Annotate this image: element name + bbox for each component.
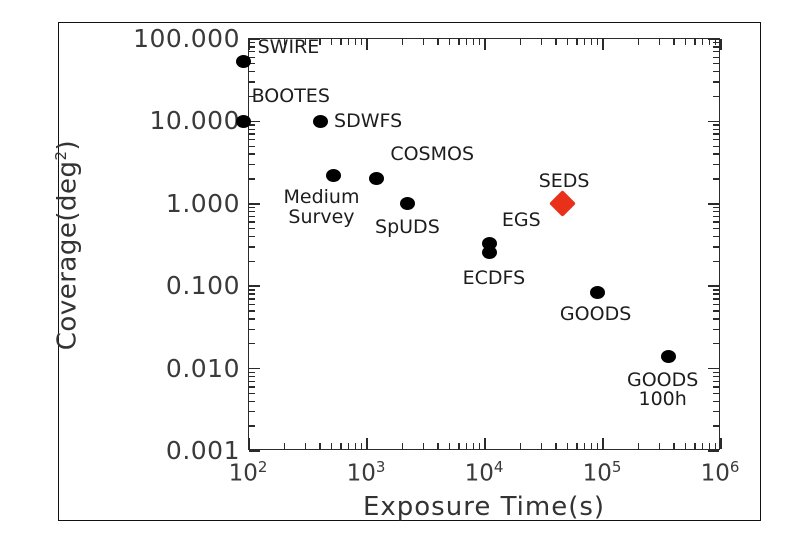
- x-minor-tick-top: [638, 39, 639, 45]
- y-minor-tick-right: [713, 304, 719, 305]
- x-minor-tick-top: [479, 39, 480, 45]
- y-minor-tick-right: [713, 124, 719, 125]
- y-minor-tick: [249, 153, 255, 154]
- y-minor-tick: [249, 261, 255, 262]
- y-minor-tick-right: [713, 146, 719, 147]
- y-minor-tick-right: [713, 51, 719, 52]
- x-major-tick-top: [366, 39, 368, 50]
- y-minor-tick-right: [713, 261, 719, 262]
- x-minor-tick-top: [694, 39, 695, 45]
- y-minor-tick-right: [713, 207, 719, 208]
- x-minor-tick: [673, 443, 674, 449]
- y-minor-tick-right: [713, 46, 719, 47]
- xtick-label-1e6: 106: [701, 458, 740, 487]
- data-point-goods-100h[interactable]: [661, 350, 676, 363]
- x-minor-tick: [340, 443, 341, 449]
- y-minor-tick-right: [713, 381, 719, 382]
- y-minor-tick-right: [713, 298, 719, 299]
- data-label-medium-survey: Medium Survey: [283, 188, 359, 228]
- xtick-base: 10: [583, 461, 612, 487]
- y-minor-tick: [249, 46, 255, 47]
- y-minor-tick-right: [713, 133, 719, 134]
- y-minor-tick: [249, 42, 255, 43]
- data-point-seds[interactable]: [549, 190, 576, 217]
- x-minor-tick: [423, 443, 424, 449]
- y-minor-tick: [249, 81, 255, 82]
- x-minor-tick-top: [466, 39, 467, 45]
- y-minor-tick: [249, 221, 255, 222]
- x-minor-tick-top: [659, 39, 660, 45]
- y-minor-tick: [249, 228, 255, 229]
- x-minor-tick: [319, 443, 320, 449]
- data-label-goods-100h: GOODS 100h: [627, 371, 698, 411]
- y-minor-tick-right: [713, 228, 719, 229]
- x-minor-tick: [694, 443, 695, 449]
- x-minor-tick-top: [715, 39, 716, 45]
- xtick-exponent: 3: [376, 458, 386, 476]
- x-minor-tick: [520, 443, 521, 449]
- y-minor-tick: [249, 376, 255, 377]
- x-minor-tick-top: [340, 39, 341, 45]
- y-minor-tick: [249, 386, 255, 387]
- y-minor-tick: [249, 71, 255, 72]
- y-minor-tick: [249, 178, 255, 179]
- y-axis-title-text: Coverage(deg: [53, 161, 83, 351]
- xtick-exponent: 2: [258, 458, 268, 476]
- data-label-seds: SEDS: [539, 172, 590, 192]
- y-major-tick: [249, 285, 260, 287]
- data-label-egs: EGS: [502, 211, 541, 231]
- x-minor-tick: [437, 443, 438, 449]
- y-minor-tick: [249, 146, 255, 147]
- y-minor-tick-right: [713, 393, 719, 394]
- x-minor-tick: [355, 443, 356, 449]
- x-minor-tick: [402, 443, 403, 449]
- x-minor-tick-top: [437, 39, 438, 45]
- xtick-exponent: 5: [612, 458, 622, 476]
- data-point-spuds[interactable]: [400, 197, 415, 210]
- x-minor-tick-top: [685, 39, 686, 45]
- y-minor-tick-right: [713, 139, 719, 140]
- y-minor-tick: [249, 293, 255, 294]
- data-point-bootes[interactable]: [236, 115, 251, 128]
- y-major-tick: [249, 368, 260, 370]
- y-minor-tick: [249, 329, 255, 330]
- x-minor-tick: [361, 443, 362, 449]
- y-major-tick-right: [708, 368, 719, 370]
- x-major-tick-top: [248, 39, 250, 50]
- x-major-tick-top: [720, 39, 722, 50]
- x-minor-tick-top: [520, 39, 521, 45]
- y-minor-tick-right: [713, 63, 719, 64]
- y-minor-tick-right: [713, 343, 719, 344]
- x-major-tick-top: [602, 39, 604, 50]
- y-minor-tick: [249, 318, 255, 319]
- ytick-label-1: 1.000: [166, 189, 240, 218]
- x-minor-tick: [473, 443, 474, 449]
- y-minor-tick-right: [713, 71, 719, 72]
- x-minor-tick: [331, 443, 332, 449]
- ytick-label-100: 100.000: [133, 24, 240, 53]
- data-label-bootes: BOOTES: [252, 87, 330, 107]
- xtick-label-1e2: 102: [229, 458, 268, 487]
- y-minor-tick: [249, 129, 255, 130]
- x-major-tick: [720, 438, 722, 449]
- data-point-ecdfs[interactable]: [482, 246, 497, 259]
- x-minor-tick: [638, 443, 639, 449]
- xtick-exponent: 6: [730, 458, 740, 476]
- x-minor-tick-top: [473, 39, 474, 45]
- y-minor-tick: [249, 164, 255, 165]
- y-minor-tick-right: [713, 289, 719, 290]
- x-minor-tick: [541, 443, 542, 449]
- y-minor-tick-right: [713, 293, 719, 294]
- y-axis-title-close: ): [53, 140, 83, 151]
- xtick-base: 10: [347, 461, 376, 487]
- y-minor-tick-right: [713, 178, 719, 179]
- xtick-base: 10: [701, 461, 730, 487]
- x-minor-tick: [715, 443, 716, 449]
- x-minor-tick-top: [348, 39, 349, 45]
- y-minor-tick: [249, 298, 255, 299]
- plot-area: SWIREBOOTESSDWFSMedium SurveyCOSMOSSpUDS…: [248, 38, 720, 450]
- x-minor-tick-top: [584, 39, 585, 45]
- x-minor-tick: [305, 443, 306, 449]
- data-point-goods[interactable]: [590, 286, 605, 299]
- x-minor-tick: [576, 443, 577, 449]
- y-minor-tick-right: [713, 386, 719, 387]
- xtick-exponent: 4: [494, 458, 504, 476]
- x-minor-tick: [466, 443, 467, 449]
- x-minor-tick: [458, 443, 459, 449]
- x-minor-tick: [597, 443, 598, 449]
- x-major-tick-top: [484, 39, 486, 50]
- y-minor-tick-right: [713, 129, 719, 130]
- y-minor-tick-right: [713, 329, 719, 330]
- x-minor-tick-top: [567, 39, 568, 45]
- x-minor-tick-top: [597, 39, 598, 45]
- data-point-cosmos[interactable]: [369, 172, 384, 185]
- y-major-tick-right: [708, 121, 719, 123]
- y-minor-tick-right: [713, 376, 719, 377]
- figure-canvas: 100.000 10.000 1.000 0.100 0.010 0.001 C…: [0, 0, 800, 539]
- y-minor-tick: [249, 133, 255, 134]
- y-minor-tick: [249, 411, 255, 412]
- x-minor-tick: [567, 443, 568, 449]
- x-minor-tick-top: [591, 39, 592, 45]
- y-minor-tick: [249, 393, 255, 394]
- data-label-cosmos: COSMOS: [390, 145, 474, 165]
- y-minor-tick: [249, 381, 255, 382]
- x-minor-tick-top: [541, 39, 542, 45]
- y-minor-tick: [249, 310, 255, 311]
- y-major-tick: [249, 203, 260, 205]
- data-point-swire[interactable]: [236, 55, 251, 68]
- x-minor-tick: [591, 443, 592, 449]
- y-minor-tick: [249, 236, 255, 237]
- x-minor-tick: [702, 443, 703, 449]
- x-minor-tick: [479, 443, 480, 449]
- x-major-tick: [602, 438, 604, 449]
- data-label-spuds: SpUDS: [375, 218, 440, 238]
- data-point-sdwfs[interactable]: [313, 115, 328, 128]
- ytick-label-10: 10.000: [150, 106, 240, 135]
- y-major-tick-right: [708, 450, 719, 452]
- x-minor-tick-top: [355, 39, 356, 45]
- x-minor-tick: [685, 443, 686, 449]
- data-label-ecdfs: ECDFS: [463, 269, 526, 289]
- x-minor-tick: [709, 443, 710, 449]
- x-minor-tick-top: [555, 39, 556, 45]
- y-major-tick-right: [708, 285, 719, 287]
- y-minor-tick: [249, 343, 255, 344]
- x-minor-tick: [584, 443, 585, 449]
- y-minor-tick: [249, 207, 255, 208]
- xtick-base: 10: [465, 461, 494, 487]
- y-minor-tick: [249, 246, 255, 247]
- x-minor-tick: [449, 443, 450, 449]
- y-minor-tick: [249, 216, 255, 217]
- y-axis-title-exponent: 2: [52, 150, 70, 160]
- y-major-tick-right: [708, 203, 719, 205]
- x-minor-tick-top: [331, 39, 332, 45]
- y-minor-tick-right: [713, 221, 719, 222]
- x-minor-tick: [284, 443, 285, 449]
- x-minor-tick-top: [673, 39, 674, 45]
- x-minor-tick-top: [319, 39, 320, 45]
- y-minor-tick: [249, 139, 255, 140]
- y-minor-tick: [249, 304, 255, 305]
- x-minor-tick-top: [402, 39, 403, 45]
- x-major-tick: [484, 438, 486, 449]
- y-minor-tick-right: [713, 236, 719, 237]
- y-minor-tick: [249, 425, 255, 426]
- x-minor-tick-top: [423, 39, 424, 45]
- y-minor-tick-right: [713, 211, 719, 212]
- y-minor-tick-right: [713, 246, 719, 247]
- y-minor-tick: [249, 289, 255, 290]
- y-minor-tick-right: [713, 81, 719, 82]
- y-minor-tick: [249, 372, 255, 373]
- y-major-tick: [249, 450, 260, 452]
- y-minor-tick: [249, 51, 255, 52]
- x-minor-tick: [555, 443, 556, 449]
- y-minor-tick-right: [713, 411, 719, 412]
- x-minor-tick-top: [458, 39, 459, 45]
- y-minor-tick-right: [713, 57, 719, 58]
- x-minor-tick: [659, 443, 660, 449]
- xtick-label-1e4: 104: [465, 458, 504, 487]
- data-label-sdwfs: SDWFS: [334, 112, 402, 132]
- y-minor-tick-right: [713, 153, 719, 154]
- x-axis-title: Exposure Time(s): [248, 492, 720, 522]
- y-minor-tick-right: [713, 372, 719, 373]
- y-minor-tick-right: [713, 425, 719, 426]
- x-minor-tick-top: [576, 39, 577, 45]
- x-minor-tick-top: [709, 39, 710, 45]
- xtick-base: 10: [229, 461, 258, 487]
- y-axis-title: Coverage(deg2): [52, 110, 83, 380]
- y-minor-tick: [249, 401, 255, 402]
- data-label-swire: SWIRE: [258, 38, 320, 58]
- data-label-goods: GOODS: [560, 305, 631, 325]
- xtick-label-1e3: 103: [347, 458, 386, 487]
- y-minor-tick-right: [713, 310, 719, 311]
- x-major-tick: [366, 438, 368, 449]
- y-minor-tick-right: [713, 164, 719, 165]
- y-minor-tick-right: [713, 401, 719, 402]
- ytick-label-0.01: 0.010: [166, 354, 240, 383]
- x-minor-tick-top: [702, 39, 703, 45]
- x-minor-tick: [348, 443, 349, 449]
- x-minor-tick-top: [361, 39, 362, 45]
- x-major-tick: [248, 438, 250, 449]
- y-minor-tick-right: [713, 318, 719, 319]
- y-minor-tick: [249, 211, 255, 212]
- x-minor-tick-top: [449, 39, 450, 45]
- data-point-medium-survey[interactable]: [326, 169, 341, 182]
- y-minor-tick-right: [713, 216, 719, 217]
- y-minor-tick-right: [713, 96, 719, 97]
- xtick-label-1e5: 105: [583, 458, 622, 487]
- ytick-label-0.1: 0.100: [166, 271, 240, 300]
